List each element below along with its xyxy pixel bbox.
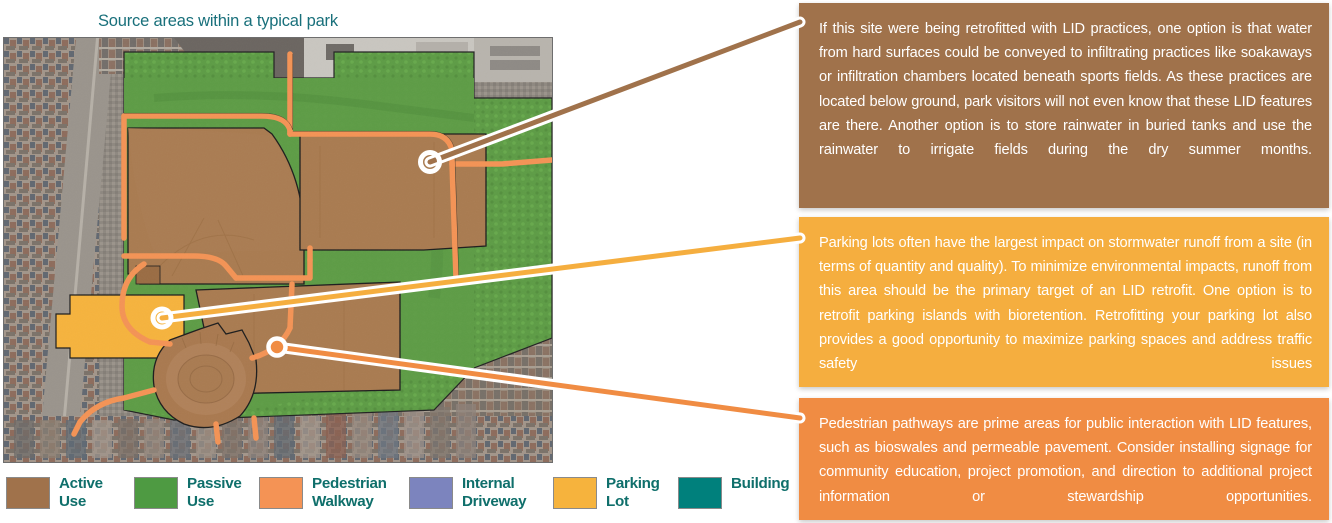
- legend-label-active-use: Active Use: [59, 475, 103, 510]
- legend-label-parking-lot: Parking Lot: [606, 475, 660, 510]
- park-aerial-map: [3, 37, 553, 463]
- legend-swatch-pedestrian-walkway: [259, 477, 303, 509]
- callout-pedestrian: Pedestrian pathways are prime areas for …: [799, 398, 1329, 520]
- callout-parking-lot-text: Parking lots often have the largest impa…: [819, 231, 1312, 400]
- legend-swatch-active-use: [6, 477, 50, 509]
- legend-item-passive-use: Passive Use: [134, 475, 259, 510]
- legend-label-building: Building: [731, 475, 789, 493]
- legend-item-pedestrian-walkway: Pedestrian Walkway: [259, 475, 409, 510]
- legend-label-internal-driveway: Internal Driveway: [462, 475, 526, 510]
- callout-sports-fields: If this site were being retrofitted with…: [799, 3, 1329, 208]
- legend-swatch-building: [678, 477, 722, 509]
- map-title: Source areas within a typical park: [98, 12, 338, 31]
- legend-item-active-use: Active Use: [6, 475, 134, 510]
- legend-label-passive-use: Passive Use: [187, 475, 241, 510]
- legend-label-pedestrian-walkway: Pedestrian Walkway: [312, 475, 387, 510]
- callout-pedestrian-text: Pedestrian pathways are prime areas for …: [819, 412, 1312, 523]
- map-legend: Active Use Passive Use Pedestrian Walkwa…: [6, 475, 796, 521]
- legend-swatch-parking-lot: [553, 477, 597, 509]
- legend-swatch-passive-use: [134, 477, 178, 509]
- legend-swatch-internal-driveway: [409, 477, 453, 509]
- legend-item-internal-driveway: Internal Driveway: [409, 475, 553, 510]
- park-aerial-map-graphic: [4, 38, 552, 462]
- legend-item-parking-lot: Parking Lot: [553, 475, 678, 510]
- legend-item-building: Building: [678, 475, 796, 509]
- callout-parking-lot: Parking lots often have the largest impa…: [799, 217, 1329, 387]
- callout-sports-fields-text: If this site were being retrofitted with…: [819, 17, 1312, 186]
- infographic-root: Source areas within a typical park: [0, 0, 1332, 523]
